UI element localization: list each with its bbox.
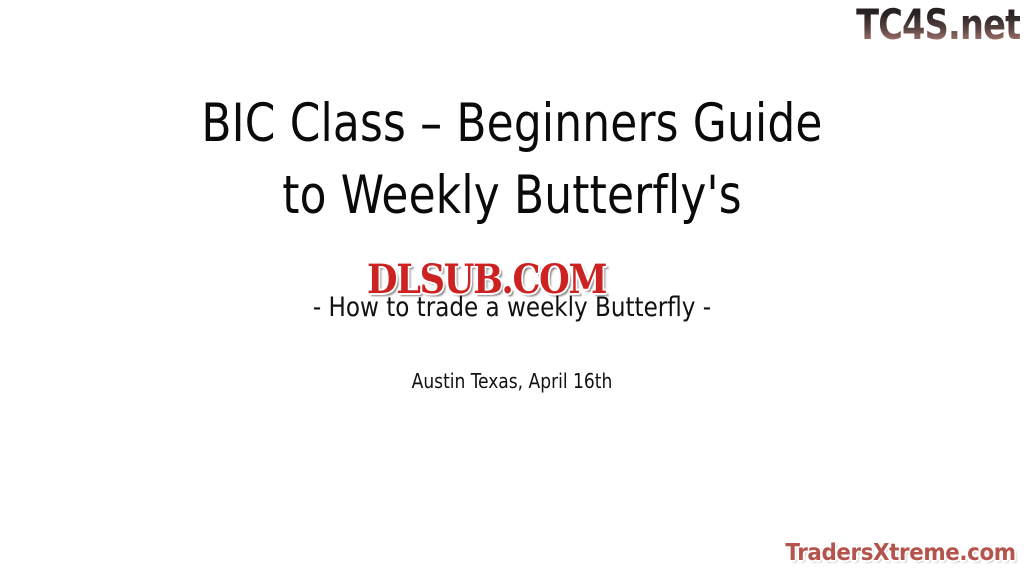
dlsub-watermark: DLSUB.COM [367, 259, 606, 301]
tradersxtreme-watermark: TradersXtreme.com [786, 540, 1016, 567]
slide-title: BIC Class – Beginners Guide to Weekly Bu… [0, 88, 1024, 232]
slide-title-line-2: to Weekly Butterfly's [41, 160, 983, 232]
slide-event-location-date: Austin Texas, April 16th [26, 368, 999, 394]
tc4s-brand-logo: TC4S.net [856, 2, 1020, 48]
presentation-slide: TC4S.net BIC Class – Beginners Guide to … [0, 0, 1024, 576]
slide-title-line-1: BIC Class – Beginners Guide [41, 88, 983, 160]
